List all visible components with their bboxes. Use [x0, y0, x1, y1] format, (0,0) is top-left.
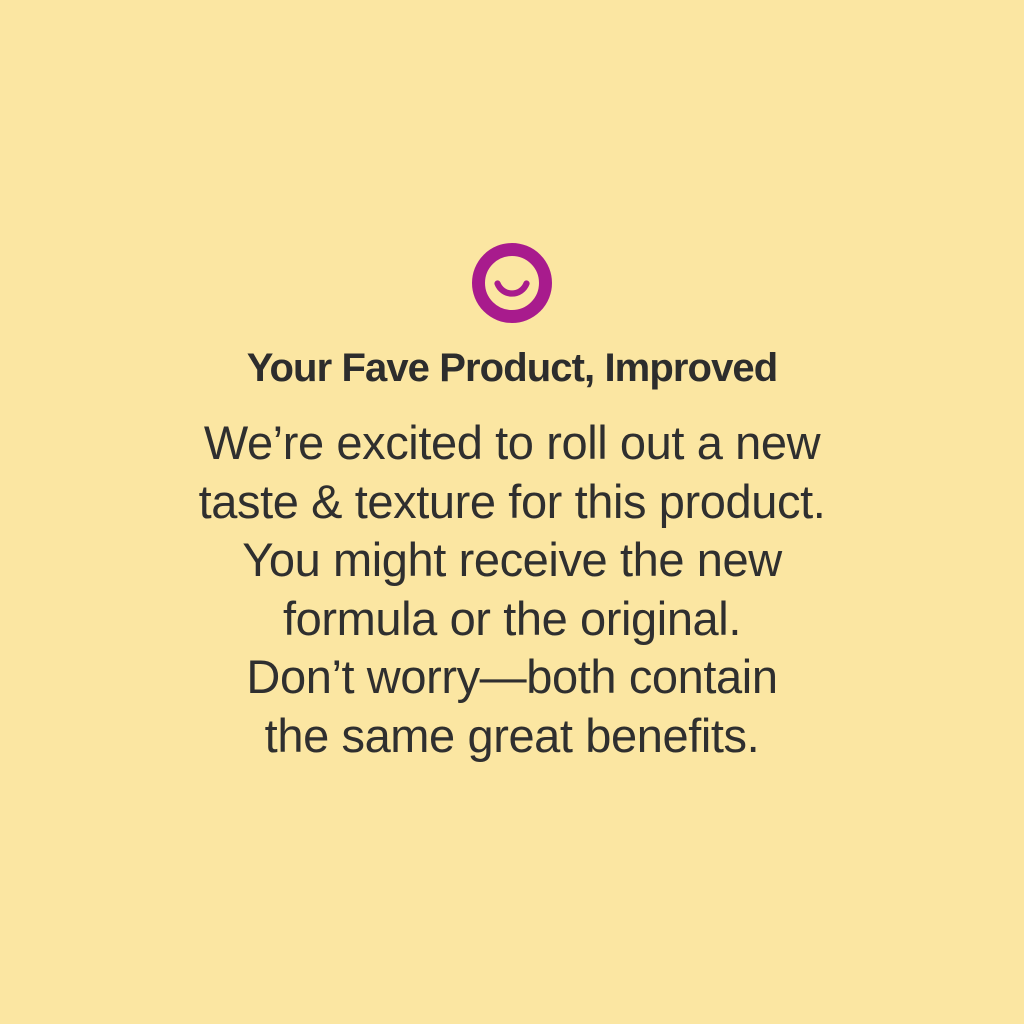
logo-smile-arc [498, 284, 527, 294]
body-copy-line: We’re excited to roll out a new [42, 414, 982, 473]
body-copy-line: Don’t worry—both contain [42, 648, 982, 707]
body-copy: We’re excited to roll out a new taste & … [42, 414, 982, 765]
body-copy-line: the same great benefits. [42, 707, 982, 766]
brand-logo [472, 243, 552, 323]
body-copy-line: taste & texture for this product. [42, 473, 982, 532]
body-copy-line: formula or the original. [42, 590, 982, 649]
promo-card: Your Fave Product, Improved We’re excite… [0, 0, 1024, 1024]
smiley-ring-icon [472, 243, 552, 323]
logo-ring [479, 250, 546, 317]
page-title: Your Fave Product, Improved [62, 347, 962, 389]
body-copy-line: You might receive the new [42, 531, 982, 590]
